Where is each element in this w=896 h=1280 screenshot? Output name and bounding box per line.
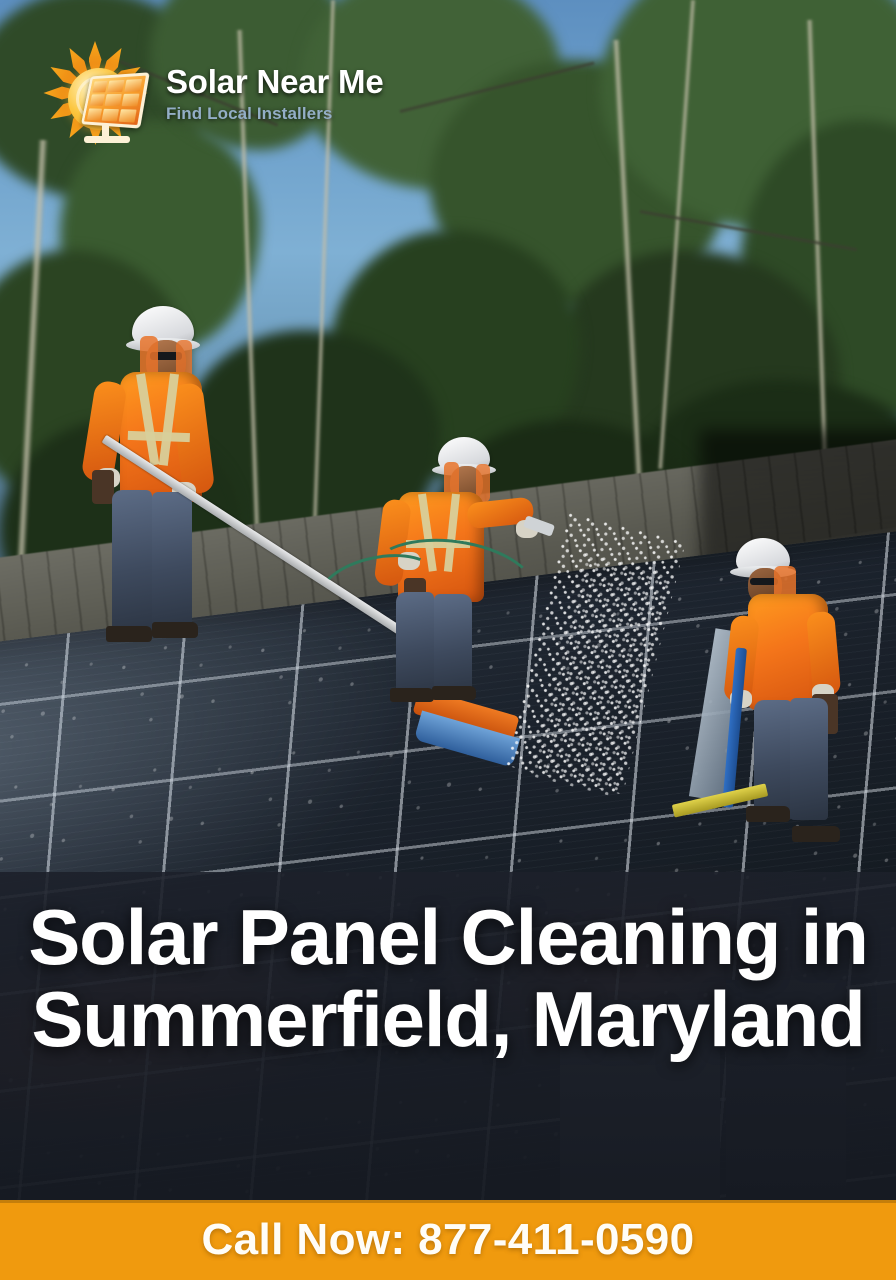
solar-panel-icon xyxy=(81,72,150,128)
call-now-bar[interactable]: Call Now: 877-411-0590 xyxy=(0,1200,896,1280)
sun-solar-panel-icon xyxy=(48,44,152,144)
panel-base-icon xyxy=(84,136,130,143)
brand-name: Solar Near Me xyxy=(166,65,384,98)
brand-tagline: Find Local Installers xyxy=(166,105,384,122)
call-now-label[interactable]: Call Now: 877-411-0590 xyxy=(201,1215,694,1265)
page-title: Solar Panel Cleaning in Summerfield, Mar… xyxy=(0,897,896,1061)
brand-logo[interactable]: Solar Near Me Find Local Installers xyxy=(48,44,384,144)
solar-poster: Solar Near Me Find Local Installers Sola… xyxy=(0,0,896,1280)
brand-wordmark: Solar Near Me Find Local Installers xyxy=(166,65,384,124)
cta-top-edge xyxy=(0,1200,896,1203)
